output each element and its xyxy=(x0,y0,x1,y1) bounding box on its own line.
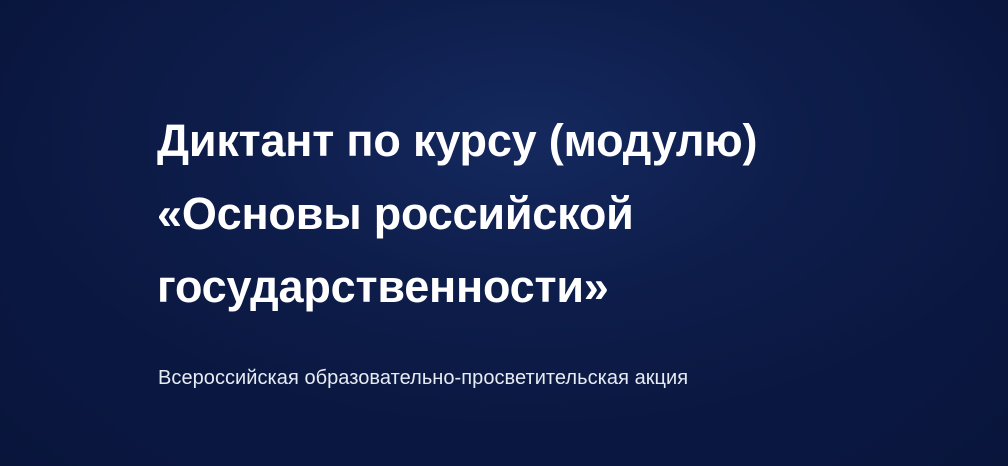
promo-banner: Диктант по курсу (модулю) «Основы россий… xyxy=(0,0,1008,466)
banner-content: Диктант по курсу (модулю) «Основы россий… xyxy=(157,0,957,466)
page-title-line-1: Диктант по курсу (модулю) xyxy=(157,104,757,177)
page-subtitle: Всероссийская образовательно-просветител… xyxy=(158,365,688,391)
page-title-line-2: «Основы российской xyxy=(157,177,757,250)
page-title-line-3: государственности» xyxy=(157,250,757,323)
page-title: Диктант по курсу (модулю) «Основы россий… xyxy=(157,104,757,323)
